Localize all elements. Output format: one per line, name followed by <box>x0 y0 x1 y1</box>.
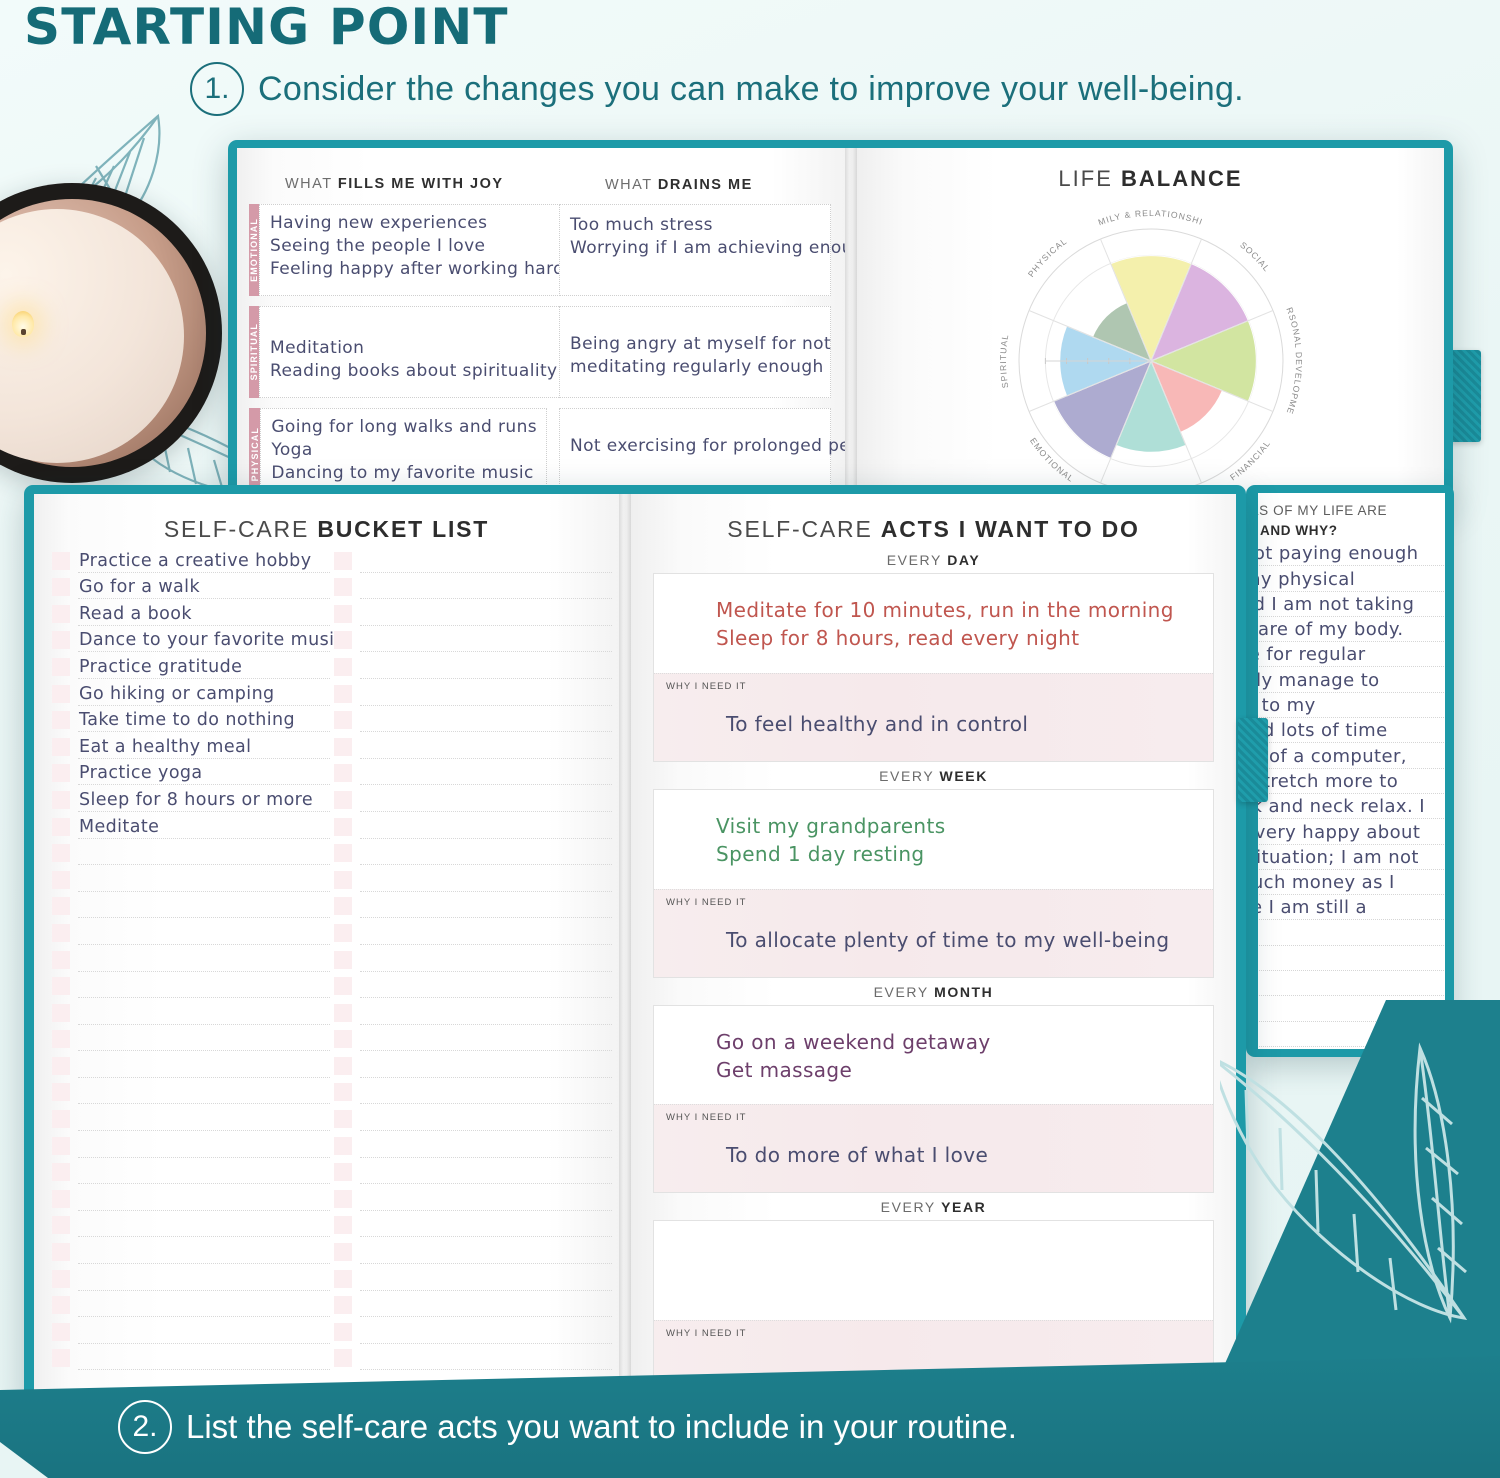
checkbox-icon[interactable] <box>52 1349 70 1367</box>
joy-line: Yoga <box>271 439 537 462</box>
step-1-number: 1. <box>190 62 244 116</box>
act-input-area[interactable]: Meditate for 10 minutes, run in the morn… <box>654 574 1213 673</box>
list-item-line: Sleep for 8 hours or more <box>78 788 330 812</box>
list-item-line <box>78 1160 330 1184</box>
checkbox-icon[interactable] <box>334 1243 352 1261</box>
list-item-line <box>78 1107 330 1131</box>
list-item[interactable] <box>334 546 612 573</box>
list-item[interactable] <box>334 812 612 839</box>
list-item-line <box>78 1001 330 1025</box>
step-2-text: List the self-care acts you want to incl… <box>186 1408 1017 1446</box>
list-item[interactable] <box>334 945 612 972</box>
joy-line: Meditation <box>270 337 557 360</box>
checkbox-icon[interactable] <box>52 1083 70 1101</box>
act-line <box>716 1272 1203 1300</box>
journal-line-text: time for regular <box>1258 644 1366 665</box>
checkbox-icon[interactable] <box>334 791 352 809</box>
bucket-list-title: SELF-CARE BUCKET LIST <box>34 516 619 543</box>
list-item-text: Dance to your favorite music <box>79 630 344 650</box>
list-item-line <box>360 948 612 972</box>
why-i-need-it-area[interactable]: WHY I NEED ITTo feel healthy and in cont… <box>654 673 1213 761</box>
svg-text:FAMILY & RELATIONSHIPS: FAMILY & RELATIONSHIPS <box>986 196 1204 227</box>
list-item-line <box>78 1346 330 1370</box>
journal-line: back and neck relax. I <box>1258 794 1445 819</box>
svg-text:EMOTIONAL: EMOTIONAL <box>1028 436 1076 484</box>
list-item[interactable]: Dance to your favorite music <box>52 626 330 653</box>
page-title: STARTING POINT <box>24 0 509 56</box>
checkbox-icon[interactable] <box>52 631 70 649</box>
list-item[interactable] <box>334 679 612 706</box>
journal-line: , and I am not taking <box>1258 592 1445 617</box>
svg-text:SPIRITUAL: SPIRITUAL <box>997 333 1009 389</box>
notebook-right-partial: AREAS OF MY LIFE AREKING AND WHY? m not … <box>1246 485 1454 1057</box>
list-item[interactable] <box>334 1184 612 1211</box>
joy-line: Feeling happy after working hard <box>270 258 564 281</box>
notebook-spine <box>845 148 857 505</box>
list-item-line <box>360 1080 612 1104</box>
checkbox-icon[interactable] <box>334 764 352 782</box>
list-item[interactable] <box>334 1264 612 1291</box>
svg-text:PHYSICAL: PHYSICAL <box>1025 236 1068 279</box>
list-item-line <box>360 735 612 759</box>
journal-line-text: uld stretch more to <box>1258 771 1398 792</box>
checkbox-icon[interactable] <box>52 1057 70 1075</box>
elastic-band-right-partial <box>1238 718 1268 802</box>
why-i-need-it-label: WHY I NEED IT <box>666 1328 1203 1339</box>
checkbox-icon[interactable] <box>334 1296 352 1314</box>
list-item-line <box>78 948 330 972</box>
list-item-text: Go hiking or camping <box>79 684 275 704</box>
list-item[interactable] <box>334 1104 612 1131</box>
list-item-line <box>360 761 612 785</box>
list-item-line <box>78 921 330 945</box>
list-item[interactable]: Eat a healthy meal <box>52 732 330 759</box>
list-item-line <box>360 575 612 599</box>
list-item[interactable] <box>52 839 330 866</box>
checkbox-icon[interactable] <box>334 1030 352 1048</box>
act-line: Meditate for 10 minutes, run in the morn… <box>716 596 1203 624</box>
joy-cell-spiritual[interactable]: Meditation Reading books about spiritual… <box>259 306 567 398</box>
list-item-line <box>78 868 330 892</box>
journal-line-text: ial situation; I am not <box>1258 847 1419 868</box>
act-line: Sleep for 8 hours, read every night <box>716 624 1203 652</box>
checkbox-icon[interactable] <box>52 578 70 596</box>
journal-line-text: not very happy about <box>1258 822 1420 843</box>
checkbox-icon[interactable] <box>334 1057 352 1075</box>
category-tab-spiritual: SPIRITUAL <box>249 306 259 398</box>
act-line: Get massage <box>716 1056 1203 1084</box>
list-item[interactable] <box>52 1158 330 1185</box>
step-1-instruction: 1. Consider the changes you can make to … <box>190 62 1244 116</box>
list-item[interactable] <box>334 759 612 786</box>
list-item[interactable] <box>334 998 612 1025</box>
why-i-need-it-text: To do more of what I love <box>726 1143 1203 1167</box>
list-item-text: Sleep for 8 hours or more <box>79 790 313 810</box>
drains-line: Worrying if I am achieving enough <box>570 237 820 260</box>
checkbox-icon[interactable] <box>334 897 352 915</box>
notebook-top-spread: WHAT FILLS ME WITH JOY WHAT DRAINS ME EM… <box>228 140 1453 505</box>
checkbox-icon[interactable] <box>52 711 70 729</box>
list-item-line <box>78 1134 330 1158</box>
list-item[interactable] <box>334 1051 612 1078</box>
list-item[interactable] <box>334 732 612 759</box>
list-item-text: Practice gratitude <box>79 657 242 677</box>
joy-line: Reading books about spirituality <box>270 360 557 383</box>
list-item-line: Practice yoga <box>78 761 330 785</box>
act-input-area[interactable]: Visit my grandparentsSpend 1 day resting <box>654 790 1213 889</box>
joy-line: Seeing the people I love <box>270 235 564 258</box>
page-self-care-acts: SELF-CARE ACTS I WANT TO DO EVERY DAYMed… <box>631 494 1236 1401</box>
list-item-line <box>360 815 612 839</box>
list-item[interactable] <box>52 1211 330 1238</box>
act-card: Meditate for 10 minutes, run in the morn… <box>653 573 1214 762</box>
checkbox-icon[interactable] <box>334 1110 352 1128</box>
checkbox-icon[interactable] <box>52 1243 70 1261</box>
journal-line: ial situation; I am not <box>1258 845 1445 870</box>
list-item-text: Practice a creative hobby <box>79 551 311 571</box>
notebook-bottom-spread: SELF-CARE BUCKET LIST Practice a creativ… <box>24 485 1246 1410</box>
list-item-text: Take time to do nothing <box>79 710 295 730</box>
list-item[interactable] <box>52 1237 330 1264</box>
list-item[interactable] <box>52 1025 330 1052</box>
list-item[interactable] <box>334 892 612 919</box>
drains-line: Being angry at myself for not <box>570 333 820 356</box>
list-item[interactable] <box>334 785 612 812</box>
list-item-text: Go for a walk <box>79 577 200 597</box>
journal-line-text: back and neck relax. I <box>1258 796 1425 817</box>
journal-line-text: , and I am not taking <box>1258 594 1414 615</box>
journal-line: rarely manage to <box>1258 667 1445 692</box>
areas-heading: AREAS OF MY LIFE AREKING AND WHY? <box>1258 501 1445 542</box>
checkbox-icon[interactable] <box>52 1030 70 1048</box>
frequency-label: EVERY MONTH <box>653 984 1214 1000</box>
checkbox-icon[interactable] <box>334 1137 352 1155</box>
list-item-line <box>78 841 330 865</box>
checkbox-icon[interactable] <box>52 738 70 756</box>
notebook-spine <box>619 494 631 1401</box>
bucket-list-column-right <box>334 546 612 1370</box>
act-line: Visit my grandparents <box>716 812 1203 840</box>
why-i-need-it-text: To allocate plenty of time to my well-be… <box>726 928 1203 952</box>
journal-line-text: spend lots of time <box>1258 720 1388 741</box>
list-item[interactable] <box>334 972 612 999</box>
list-item[interactable] <box>52 972 330 999</box>
checkbox-icon[interactable] <box>334 552 352 570</box>
column-heading-joy: WHAT FILLS ME WITH JOY <box>285 176 504 192</box>
list-item-line <box>360 1107 612 1131</box>
list-item-line: Meditate <box>78 815 330 839</box>
list-item[interactable] <box>334 652 612 679</box>
list-item[interactable]: Meditate <box>52 812 330 839</box>
life-balance-title: LIFE BALANCE <box>857 166 1444 192</box>
drains-line: meditating regularly enough <box>570 356 820 379</box>
list-item-line <box>78 1187 330 1211</box>
list-item[interactable] <box>334 839 612 866</box>
list-item-line <box>78 1054 330 1078</box>
life-balance-wheel[interactable]: FAMILY & RELATIONSHIPSSOCIALPERSONAL DEV… <box>986 196 1316 505</box>
journal-line: gh care of my body. <box>1258 617 1445 642</box>
list-item-line: Read a book <box>78 602 330 626</box>
journal-line: not very happy about <box>1258 819 1445 844</box>
checkbox-icon[interactable] <box>334 1270 352 1288</box>
list-item[interactable] <box>334 1317 612 1344</box>
list-item[interactable] <box>52 1184 330 1211</box>
journal-line: front of a computer, <box>1258 743 1445 768</box>
list-item-line <box>78 1240 330 1264</box>
list-item-line <box>78 1320 330 1344</box>
list-item[interactable] <box>52 1051 330 1078</box>
list-item[interactable]: Practice gratitude <box>52 652 330 679</box>
journal-line <box>1258 920 1445 945</box>
list-item[interactable] <box>52 1344 330 1371</box>
step-2-instruction: 2. List the self-care acts you want to i… <box>118 1400 1017 1454</box>
checkbox-icon[interactable] <box>334 818 352 836</box>
act-line <box>716 1243 1203 1271</box>
journal-line-text: gh care of my body. <box>1258 619 1404 640</box>
journal-line: uld stretch more to <box>1258 769 1445 794</box>
journal-line: m not paying enough <box>1258 541 1445 566</box>
table-row-spiritual: SPIRITUAL Meditation Reading books about… <box>249 306 547 398</box>
act-input-area[interactable]: Go on a weekend getawayGet massage <box>654 1006 1213 1105</box>
list-item-line <box>360 708 612 732</box>
checkbox-icon[interactable] <box>52 951 70 969</box>
checkbox-icon[interactable] <box>334 605 352 623</box>
candle-wick <box>21 329 26 335</box>
list-item[interactable] <box>334 1291 612 1318</box>
list-item[interactable] <box>52 865 330 892</box>
list-item[interactable] <box>52 1317 330 1344</box>
list-item[interactable]: Read a book <box>52 599 330 626</box>
list-item-line <box>360 1160 612 1184</box>
list-item-line <box>360 1293 612 1317</box>
checkbox-icon[interactable] <box>52 1323 70 1341</box>
checkbox-icon[interactable] <box>334 1083 352 1101</box>
why-i-need-it-label: WHY I NEED IT <box>666 897 1203 908</box>
acts-sections: EVERY DAYMeditate for 10 minutes, run in… <box>653 546 1214 1401</box>
list-item-line: Go hiking or camping <box>78 682 330 706</box>
list-item-text: Meditate <box>79 817 159 837</box>
journal-line-text: front of a computer, <box>1258 746 1407 767</box>
why-i-need-it-label: WHY I NEED IT <box>666 1112 1203 1123</box>
act-line: Go on a weekend getaway <box>716 1028 1203 1056</box>
checkbox-icon[interactable] <box>52 658 70 676</box>
act-card: Go on a weekend getawayGet massageWHY I … <box>653 1005 1214 1194</box>
checkbox-icon[interactable] <box>52 924 70 942</box>
list-item[interactable] <box>52 1078 330 1105</box>
list-item[interactable] <box>334 918 612 945</box>
checkbox-icon[interactable] <box>52 1004 70 1022</box>
list-item-line <box>78 1267 330 1291</box>
list-item[interactable] <box>334 865 612 892</box>
checkbox-icon[interactable] <box>52 871 70 889</box>
checkbox-icon[interactable] <box>52 897 70 915</box>
journal-line-text: rarely manage to <box>1258 670 1380 691</box>
list-item[interactable]: Practice yoga <box>52 759 330 786</box>
journal-line-text: s much money as I <box>1258 872 1395 893</box>
joy-cell-emotional[interactable]: Having new experiences Seeing the people… <box>259 204 574 296</box>
journal-line <box>1258 946 1445 971</box>
list-item[interactable] <box>334 1237 612 1264</box>
why-i-need-it-text: To feel healthy and in control <box>726 712 1203 736</box>
checkbox-icon[interactable] <box>52 764 70 782</box>
list-item-text: Practice yoga <box>79 763 203 783</box>
list-item-line: Dance to your favorite music <box>78 628 330 652</box>
list-item-line <box>360 602 612 626</box>
list-item[interactable] <box>334 599 612 626</box>
journal-line: time for regular <box>1258 642 1445 667</box>
checkbox-icon[interactable] <box>52 1163 70 1181</box>
list-item[interactable] <box>334 626 612 653</box>
checkbox-icon[interactable] <box>52 1270 70 1288</box>
drains-line: Too much stress <box>570 214 820 237</box>
checkbox-icon[interactable] <box>334 1349 352 1367</box>
list-item-line <box>360 628 612 652</box>
journal-line: spend lots of time <box>1258 718 1445 743</box>
checkbox-icon[interactable] <box>52 552 70 570</box>
areas-body-text: m not paying enoughto my physical, and I… <box>1258 541 1445 1047</box>
checkbox-icon[interactable] <box>52 1190 70 1208</box>
list-item-line: Go for a walk <box>78 575 330 599</box>
list-item-text: Read a book <box>79 604 192 624</box>
list-item[interactable]: Practice a creative hobby <box>52 546 330 573</box>
table-row-emotional: EMOTIONAL Having new experiences Seeing … <box>249 204 547 296</box>
checkbox-icon[interactable] <box>334 1004 352 1022</box>
frequency-label: EVERY YEAR <box>653 1199 1214 1215</box>
svg-text:SOCIAL: SOCIAL <box>1238 240 1272 274</box>
list-item-line <box>360 1267 612 1291</box>
svg-text:FINANCIAL: FINANCIAL <box>1228 438 1272 482</box>
list-item[interactable] <box>334 1025 612 1052</box>
page-bucket-list: SELF-CARE BUCKET LIST Practice a creativ… <box>34 494 619 1401</box>
list-item[interactable] <box>52 918 330 945</box>
journal-line: s much money as I <box>1258 870 1445 895</box>
list-item[interactable] <box>334 706 612 733</box>
checkbox-icon[interactable] <box>334 871 352 889</box>
checkbox-icon[interactable] <box>334 977 352 995</box>
list-item[interactable] <box>52 998 330 1025</box>
list-item[interactable] <box>334 1078 612 1105</box>
why-i-need-it-area[interactable]: WHY I NEED ITTo allocate plenty of time … <box>654 889 1213 977</box>
checkbox-icon[interactable] <box>52 791 70 809</box>
why-i-need-it-area[interactable]: WHY I NEED ITTo do more of what I love <box>654 1104 1213 1192</box>
checkbox-icon[interactable] <box>52 1216 70 1234</box>
list-item-line <box>78 1027 330 1051</box>
acts-title: SELF-CARE ACTS I WANT TO DO <box>631 516 1236 543</box>
frequency-label: EVERY WEEK <box>653 768 1214 784</box>
checkbox-icon[interactable] <box>334 1323 352 1341</box>
list-item[interactable] <box>52 1264 330 1291</box>
list-item[interactable] <box>52 892 330 919</box>
list-item-line <box>360 1187 612 1211</box>
checkbox-icon[interactable] <box>334 1163 352 1181</box>
journal-line-text: to my physical <box>1258 569 1355 590</box>
act-line: Spend 1 day resting <box>716 840 1203 868</box>
drains-cell-spiritual[interactable]: Being angry at myself for not meditating… <box>559 306 831 398</box>
page-life-balance: LIFE BALANCE FAMILY & RELATIONSHIPSSOCIA… <box>857 148 1444 505</box>
list-item-line: Eat a healthy meal <box>78 735 330 759</box>
checkbox-icon[interactable] <box>52 1110 70 1128</box>
journal-line: ause I am still a <box>1258 895 1445 920</box>
list-item[interactable]: Take time to do nothing <box>52 706 330 733</box>
list-item[interactable] <box>334 1158 612 1185</box>
list-item-line <box>360 1346 612 1370</box>
checkbox-icon[interactable] <box>52 844 70 862</box>
list-item[interactable] <box>334 1344 612 1371</box>
checkbox-icon[interactable] <box>334 658 352 676</box>
page-areas-of-my-life: AREAS OF MY LIFE AREKING AND WHY? m not … <box>1258 493 1445 1049</box>
journal-line <box>1258 971 1445 996</box>
checkbox-icon[interactable] <box>334 631 352 649</box>
list-item[interactable] <box>52 1131 330 1158</box>
joy-line: Having new experiences <box>270 212 564 235</box>
list-item-line <box>78 1293 330 1317</box>
list-item-line <box>78 894 330 918</box>
list-item-line <box>360 868 612 892</box>
checkbox-icon[interactable] <box>334 685 352 703</box>
checkbox-icon[interactable] <box>334 1190 352 1208</box>
category-tab-emotional: EMOTIONAL <box>249 204 259 296</box>
checkbox-icon[interactable] <box>52 1296 70 1314</box>
list-item[interactable] <box>334 1131 612 1158</box>
list-item-line <box>360 1027 612 1051</box>
checkbox-icon[interactable] <box>334 924 352 942</box>
checkbox-icon[interactable] <box>52 685 70 703</box>
list-item-line <box>78 1080 330 1104</box>
column-heading-drains: WHAT DRAINS ME <box>605 177 753 193</box>
checkbox-icon[interactable] <box>334 578 352 596</box>
candle-photo <box>0 183 222 483</box>
checkbox-icon[interactable] <box>334 1216 352 1234</box>
checkbox-icon[interactable] <box>52 977 70 995</box>
list-item[interactable] <box>52 1104 330 1131</box>
list-item-line: Take time to do nothing <box>78 708 330 732</box>
list-item[interactable] <box>334 1211 612 1238</box>
list-item[interactable] <box>52 1291 330 1318</box>
list-item[interactable]: Sleep for 8 hours or more <box>52 785 330 812</box>
journal-line-text: ause I am still a <box>1258 897 1367 918</box>
drains-cell-emotional[interactable]: Too much stress Worrying if I am achievi… <box>559 204 831 296</box>
checkbox-icon[interactable] <box>52 605 70 623</box>
list-item[interactable]: Go hiking or camping <box>52 679 330 706</box>
list-item-line <box>360 1054 612 1078</box>
list-item-line <box>360 1213 612 1237</box>
step-2-number: 2. <box>118 1400 172 1454</box>
checkbox-icon[interactable] <box>334 738 352 756</box>
list-item[interactable] <box>334 573 612 600</box>
list-item-line <box>78 974 330 998</box>
checkbox-icon[interactable] <box>52 1137 70 1155</box>
checkbox-icon[interactable] <box>52 818 70 836</box>
drains-line: Not exercising for prolonged periods <box>570 435 820 458</box>
journal-line: to my physical <box>1258 566 1445 591</box>
checkbox-icon[interactable] <box>334 711 352 729</box>
bucket-list-column-left: Practice a creative hobbyGo for a walkRe… <box>52 546 330 1370</box>
act-input-area[interactable] <box>654 1221 1213 1320</box>
list-item-line: Practice a creative hobby <box>78 549 330 573</box>
journal-line-text: m not paying enough <box>1258 543 1418 564</box>
list-item-line <box>360 1134 612 1158</box>
list-item[interactable]: Go for a walk <box>52 573 330 600</box>
list-item[interactable] <box>52 945 330 972</box>
checkbox-icon[interactable] <box>334 844 352 862</box>
list-item-text: Eat a healthy meal <box>79 737 251 757</box>
list-item-line <box>360 1320 612 1344</box>
checkbox-icon[interactable] <box>334 951 352 969</box>
joy-line: Dancing to my favorite music <box>271 462 537 485</box>
act-card: Visit my grandparentsSpend 1 day resting… <box>653 789 1214 978</box>
frequency-label: EVERY DAY <box>653 552 1214 568</box>
journal-line: Due to my <box>1258 693 1445 718</box>
